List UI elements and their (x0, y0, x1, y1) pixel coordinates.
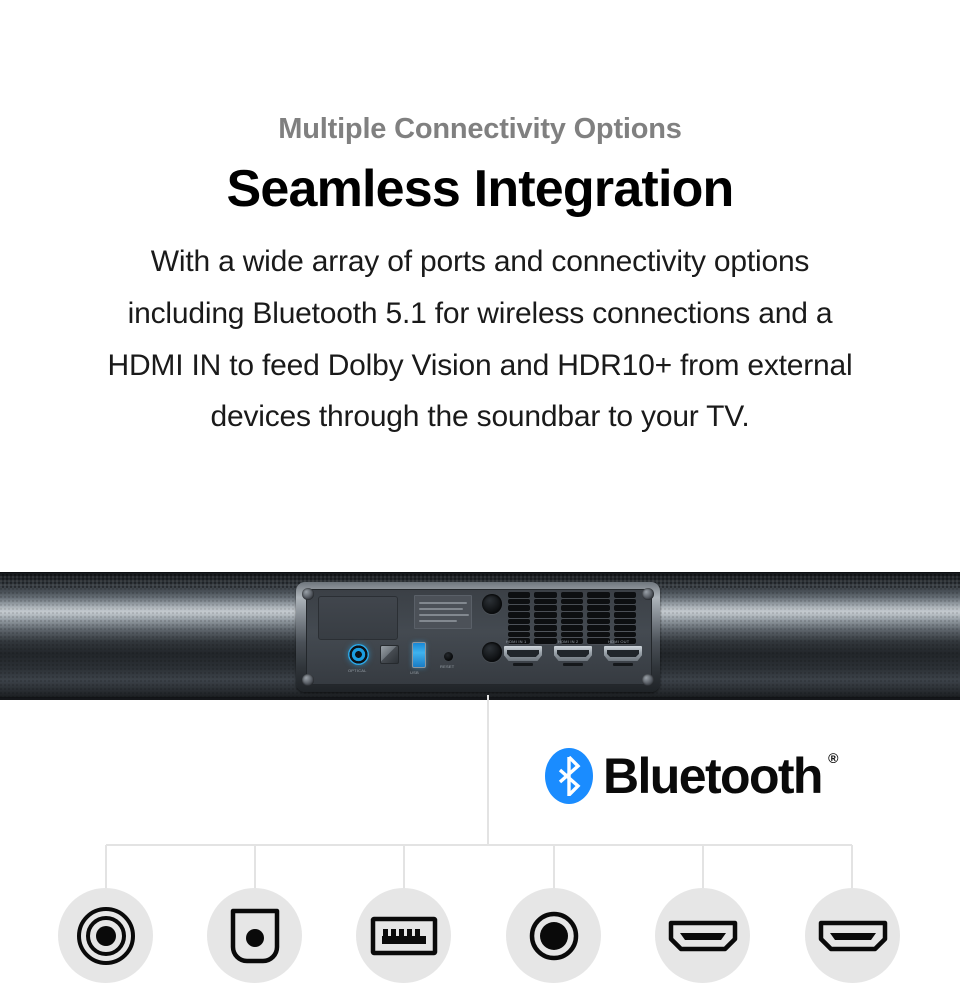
usb-port-icon (356, 888, 451, 983)
optical-port-icon (207, 888, 302, 983)
rear-connector-panel: OPTICAL USB RESET HDMI IN 1 HDMI IN 2 HD… (296, 582, 660, 692)
mount-screw-top-left (302, 588, 314, 600)
infographic-page: Multiple Connectivity Options Seamless I… (0, 0, 960, 1000)
blank-panel-area (318, 596, 398, 640)
caution-sticker (414, 595, 472, 629)
coaxial-port-icon (58, 888, 153, 983)
port-caption-reset: RESET (440, 664, 454, 669)
mount-screw-bottom-left (302, 674, 314, 686)
port-caption-hdmi-1: HDMI IN 1 (506, 639, 526, 644)
hdmi-in-1-port (504, 646, 542, 661)
port-caption-optical: OPTICAL (348, 668, 367, 673)
eyebrow-text: Multiple Connectivity Options (0, 114, 960, 146)
soundbar-top-edge (0, 572, 960, 574)
bluetooth-rune-icon (545, 748, 593, 804)
optical-digital-audio-port (348, 644, 369, 665)
page-title: Seamless Integration (0, 162, 960, 217)
bluetooth-wordmark: Bluetooth ® (603, 751, 822, 801)
port-caption-hdmi-2: HDMI IN 2 (558, 639, 578, 644)
reset-pinhole (444, 652, 453, 661)
cable-hole-upper (482, 594, 502, 614)
bluetooth-wordmark-text: Bluetooth (603, 748, 822, 804)
cable-hole-lower (482, 642, 502, 662)
aux-port-icon (506, 888, 601, 983)
hdmi-out-port (604, 646, 642, 661)
port-caption-usb: USB (410, 670, 419, 675)
bluetooth-logo: Bluetooth ® (545, 748, 822, 804)
ventilation-slots (508, 592, 636, 644)
hdmi-port-icon-1 (655, 888, 750, 983)
port-caption-hdmi-3: HDMI OUT (608, 639, 629, 644)
body-paragraph: With a wide array of ports and connectiv… (100, 236, 860, 442)
mount-screw-bottom-right (642, 674, 654, 686)
service-port (380, 645, 399, 664)
hdmi-port-icon-2 (805, 888, 900, 983)
hdmi-in-2-port (554, 646, 592, 661)
registered-trademark-mark: ® (828, 751, 837, 765)
connectivity-icon-row (0, 888, 960, 988)
mount-screw-top-right (642, 588, 654, 600)
usb-port (412, 642, 426, 668)
text-block: Multiple Connectivity Options Seamless I… (0, 0, 960, 443)
